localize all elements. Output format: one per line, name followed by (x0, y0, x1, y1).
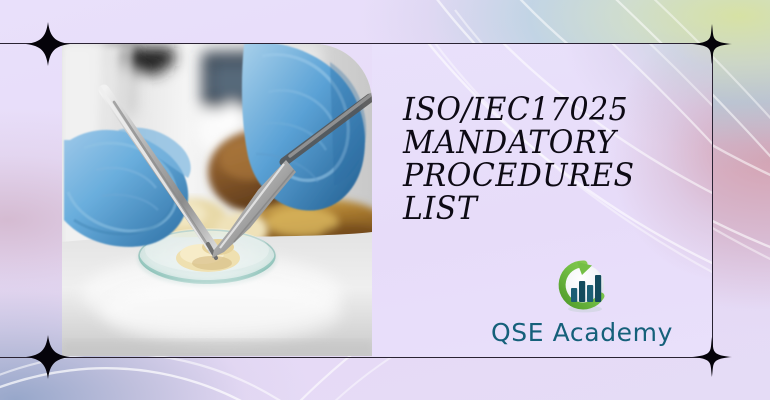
title-line-3: PROCEDURES (403, 158, 703, 193)
frame-border-bottom (0, 357, 713, 358)
title-line-1: ISO/IEC17025 (403, 92, 703, 127)
page-title: ISO/IEC17025 MANDATORY PROCEDURES LIST (403, 92, 703, 224)
brand-logo: QSE Academy (474, 258, 690, 348)
brand-name: QSE Academy (491, 318, 673, 347)
laboratory-sample-testing-photo (62, 44, 372, 356)
growth-bar-chart-arrow-icon (551, 258, 613, 316)
title-line-4: LIST (403, 191, 703, 226)
title-line-2: MANDATORY (403, 125, 703, 160)
poster-canvas: ISO/IEC17025 MANDATORY PROCEDURES LIST (0, 0, 770, 400)
frame-border-right (712, 43, 713, 358)
